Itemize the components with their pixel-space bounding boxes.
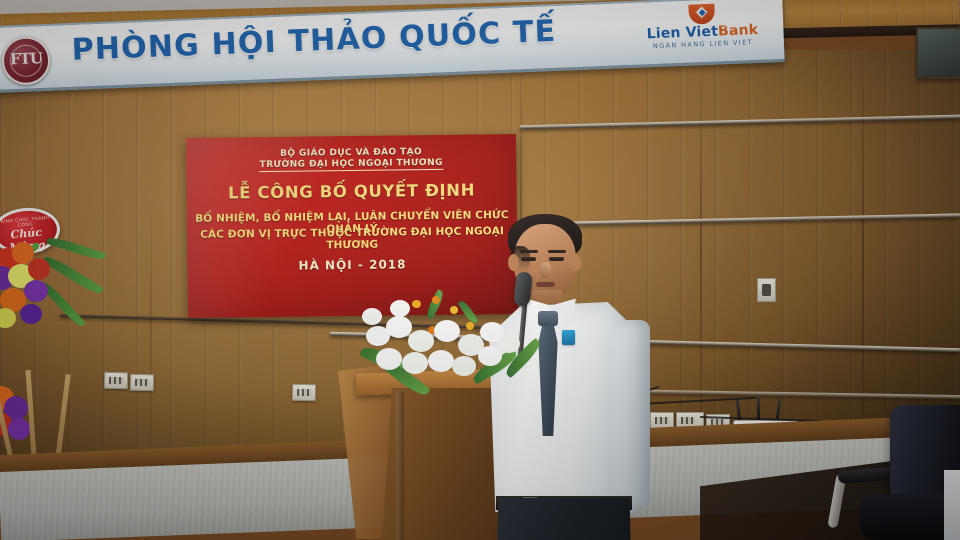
- necktie-knot: [538, 311, 558, 326]
- wall-outlet[interactable]: [104, 372, 128, 390]
- banner-subline-2: CÁC ĐƠN VỊ TRỰC THUỘC TRƯỜNG ĐẠI HỌC NGO…: [187, 225, 517, 254]
- chair-cover: [944, 470, 960, 540]
- eye-right: [549, 257, 564, 261]
- ear-left: [508, 254, 519, 271]
- flower-cluster: [28, 258, 50, 280]
- flower-cluster: [20, 304, 42, 324]
- accent-flower: [450, 306, 458, 314]
- ftu-seal-icon: FTU: [1, 36, 51, 86]
- accent-flower: [466, 322, 474, 330]
- white-flower: [390, 300, 410, 317]
- white-flower: [428, 350, 454, 372]
- white-flower: [478, 346, 502, 366]
- white-flower: [408, 330, 434, 352]
- lienvietbank-mark-icon: [688, 4, 715, 25]
- wall-seam: [862, 50, 864, 450]
- trousers: [494, 498, 634, 540]
- accent-flower: [412, 300, 421, 308]
- flower-cluster: [0, 308, 16, 328]
- chest-badge: [562, 330, 575, 345]
- wall-outlet[interactable]: [292, 384, 316, 402]
- event-banner: BỘ GIÁO DỤC VÀ ĐÀO TẠO TRƯỜNG ĐẠI HỌC NG…: [186, 134, 518, 318]
- wall-outlet[interactable]: [130, 374, 154, 392]
- white-flower: [498, 334, 520, 353]
- white-flower: [452, 356, 476, 376]
- right-arm: [610, 320, 650, 506]
- mouth: [536, 282, 555, 287]
- conference-room-photo: FTU PHÒNG HỘI THẢO QUỐC TẾ Lien VietBank…: [0, 0, 960, 540]
- white-flower: [376, 348, 402, 370]
- ftu-monogram: FTU: [4, 49, 49, 69]
- lienvietbank-logo: Lien VietBank NGAN HANG LIEN VIET: [636, 2, 768, 63]
- router-antenna: [757, 396, 760, 420]
- white-flower: [362, 308, 382, 325]
- accent-flower: [432, 296, 440, 304]
- ear-right: [570, 254, 581, 271]
- banner-headline: LỄ CÔNG BỐ QUYẾT ĐỊNH: [186, 180, 516, 203]
- flower-cluster: [24, 280, 48, 302]
- eyebrow-right: [548, 250, 566, 253]
- white-flower: [402, 352, 428, 374]
- white-flower: [434, 320, 460, 342]
- podium-edge: [396, 392, 404, 540]
- nose: [540, 262, 551, 278]
- wall-switch-plate[interactable]: [757, 278, 776, 302]
- eyebrow-left: [520, 250, 538, 253]
- eye-left: [521, 257, 536, 261]
- wall-seam: [150, 200, 152, 450]
- chair-seat: [860, 494, 956, 540]
- white-flower: [386, 316, 412, 338]
- speaker-at-podium: [478, 210, 648, 540]
- wall-vent-panel: [916, 27, 960, 79]
